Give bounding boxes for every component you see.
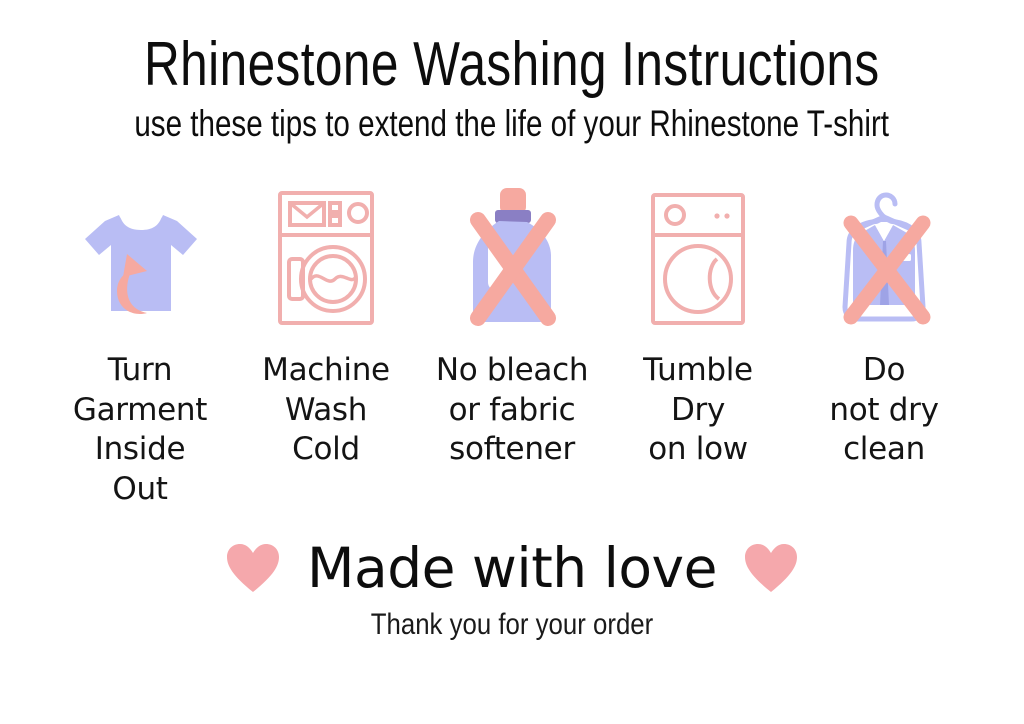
tshirt-inside-out-icon (75, 199, 205, 329)
heart-icon (225, 542, 281, 594)
icon-slot-3 (452, 179, 572, 329)
instruction-label-1: Turn Garment Inside Out (47, 351, 233, 510)
icon-slot-4 (643, 179, 753, 329)
icon-row (0, 179, 1024, 329)
made-with-love-row: Made with love (0, 536, 1024, 600)
made-with-love-text: Made with love (307, 536, 717, 600)
icon-slot-1 (75, 179, 205, 329)
page-title: Rhinestone Washing Instructions (144, 32, 880, 97)
heart-icon (743, 542, 799, 594)
instruction-column-5 (791, 179, 977, 329)
instruction-label-3: No bleach or fabric softener (419, 351, 605, 470)
instruction-column-4 (605, 179, 791, 329)
washing-machine-icon (271, 187, 381, 329)
icon-slot-5 (819, 179, 949, 329)
instruction-column-2 (233, 179, 419, 329)
instruction-label-4: Tumble Dry on low (605, 351, 791, 470)
icon-slot-2 (271, 179, 381, 329)
page-subtitle: use these tips to extend the life of you… (135, 103, 890, 145)
instruction-column-3 (419, 179, 605, 329)
instruction-label-2: Machine Wash Cold (233, 351, 419, 470)
tumble-dryer-icon (643, 189, 753, 329)
instruction-label-5: Do not dry clean (791, 351, 977, 470)
no-dry-clean-icon (819, 181, 949, 329)
thank-you-text: Thank you for your order (72, 608, 953, 642)
instruction-column-1 (47, 179, 233, 329)
washing-instructions-card: Rhinestone Washing Instructions use thes… (0, 0, 1024, 724)
label-row: Turn Garment Inside Out Machine Wash Col… (0, 351, 1024, 510)
no-bleach-bottle-icon (452, 184, 572, 329)
